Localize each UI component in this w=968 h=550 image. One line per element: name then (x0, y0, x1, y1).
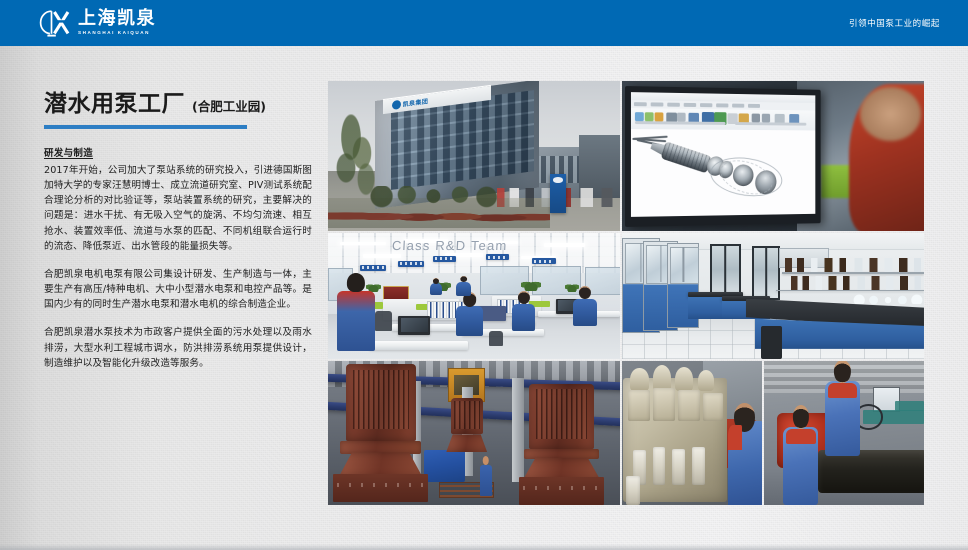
section-heading: 研发与制造 (44, 145, 312, 159)
page-title: 潜水用泵工厂 (合肥工业园) (44, 84, 312, 118)
slide-canvas: 上海凯泉 SHANGHAI KAIQUAN 引领中国泵工业的崛起 潜水用泵工厂 … (0, 0, 968, 550)
pump-base-left (333, 474, 428, 502)
cylinder-head-2 (653, 388, 675, 421)
photo-laboratory[interactable] (622, 233, 924, 359)
page-title-sub: (合肥工业园) (192, 96, 266, 115)
office-chair-1 (375, 311, 393, 331)
engineer-3 (573, 299, 596, 327)
roof-sign-text: 凯泉集团 (403, 96, 429, 108)
column-3 (512, 378, 524, 482)
blue-banner-sign (550, 174, 566, 213)
glass-flasks (852, 291, 924, 304)
office-wall-slogan: Class R&D Team (392, 238, 508, 253)
pump-3d-model (642, 119, 807, 216)
oil-filter-4 (692, 447, 705, 484)
photo-factory-building[interactable]: 凯泉集团 (328, 81, 620, 231)
photo-diesel-engine[interactable] (622, 361, 762, 505)
page-header: 上海凯泉 SHANGHAI KAIQUAN 引领中国泵工业的崛起 (0, 0, 968, 46)
worker-collar-2 (786, 429, 816, 445)
engineer-4 (456, 282, 471, 296)
potted-plant-2 (521, 280, 541, 291)
content-text-column: 潜水用泵工厂 (合肥工业园) 研发与制造 2017年开始，公司加大了泵站系统的研… (44, 84, 312, 380)
submersible-pump-left (346, 364, 416, 502)
submersible-pump-center (451, 398, 483, 467)
potted-plant-3 (565, 283, 580, 292)
intake-pipe-1 (630, 368, 648, 391)
pump-motor-right (529, 384, 593, 449)
pump-flange-left (340, 441, 421, 453)
pump-bellmouth-center (446, 434, 487, 452)
reagent-bottles-1 (785, 258, 921, 272)
kaiquan-logo-icon (38, 8, 71, 39)
pump-flange-right (524, 449, 598, 459)
photo-collage: 凯泉集团 (328, 81, 924, 505)
intake-pipe-2 (653, 365, 671, 391)
engineer-5 (430, 283, 442, 294)
photo-rd-office[interactable]: Class R&D Team (328, 233, 620, 359)
lab-chair (761, 326, 782, 359)
cad-drawing-canvas (631, 129, 815, 217)
worker-crouching (783, 427, 818, 505)
pump-motor-center (451, 398, 483, 434)
cylinder-head-4 (703, 393, 723, 422)
desktop-monitor-1 (398, 316, 430, 335)
photo-large-pumps[interactable] (328, 361, 620, 505)
intake-pipe-3 (675, 367, 693, 391)
foreground-worker (337, 291, 375, 351)
page-title-main: 潜水用泵工厂 (44, 84, 185, 118)
roof-logo-icon: 凯泉集团 (392, 96, 429, 109)
header-tagline: 引领中国泵工业的崛起 (849, 0, 940, 46)
engineer-2 (512, 304, 535, 332)
computer-monitor (625, 86, 821, 227)
engine-technician (728, 421, 762, 505)
pump-base-right (519, 477, 604, 505)
foreground-tree (331, 114, 381, 207)
oil-filter-5 (626, 476, 640, 505)
engineer-silhouette (849, 84, 925, 231)
worker-standing (825, 381, 860, 456)
engineer-1 (456, 306, 482, 336)
lab-window-2 (752, 246, 780, 300)
reagent-bottles-2 (791, 276, 921, 290)
submersible-pump-right (529, 384, 593, 505)
green-rack (895, 401, 924, 411)
brand-name-cn: 上海凯泉 (78, 10, 156, 28)
monitor-screen (631, 91, 815, 216)
worker-collar-1 (828, 383, 858, 398)
cylinder-head-1 (628, 390, 650, 422)
brand-name-en: SHANGHAI KAIQUAN (78, 31, 156, 36)
desk-4 (369, 341, 468, 350)
cylinder-head-3 (678, 390, 700, 422)
body-paragraph-1: 2017年开始，公司加大了泵站系统的研究投入，引进德国斯图加特大学的专家汪慧明博… (44, 163, 312, 254)
factory-worker (480, 465, 492, 497)
pump-motor-left (346, 364, 416, 441)
pump-shaft (818, 450, 924, 493)
oil-filter-3 (672, 449, 685, 485)
brand-logo[interactable]: 上海凯泉 SHANGHAI KAIQUAN (38, 7, 156, 39)
title-underline-rule (44, 125, 247, 129)
reagent-shelf-1 (782, 272, 924, 274)
body-paragraph-2: 合肥凯泉电机电泵有限公司集设计研发、生产制造与一体，主要生产有高压/特种电机、大… (44, 267, 312, 312)
palm-row (369, 186, 509, 225)
photo-cad-workstation[interactable] (622, 81, 924, 231)
photo-assembly-workers[interactable] (764, 361, 924, 505)
intake-pipe-4 (698, 370, 715, 392)
office-chair-2 (489, 331, 504, 346)
body-paragraph-3: 合肥凯泉潜水泵技术为市政客户提供全面的污水处理以及雨水排涝，大型水利工程城市调水… (44, 325, 312, 370)
oil-filter-2 (653, 447, 666, 484)
